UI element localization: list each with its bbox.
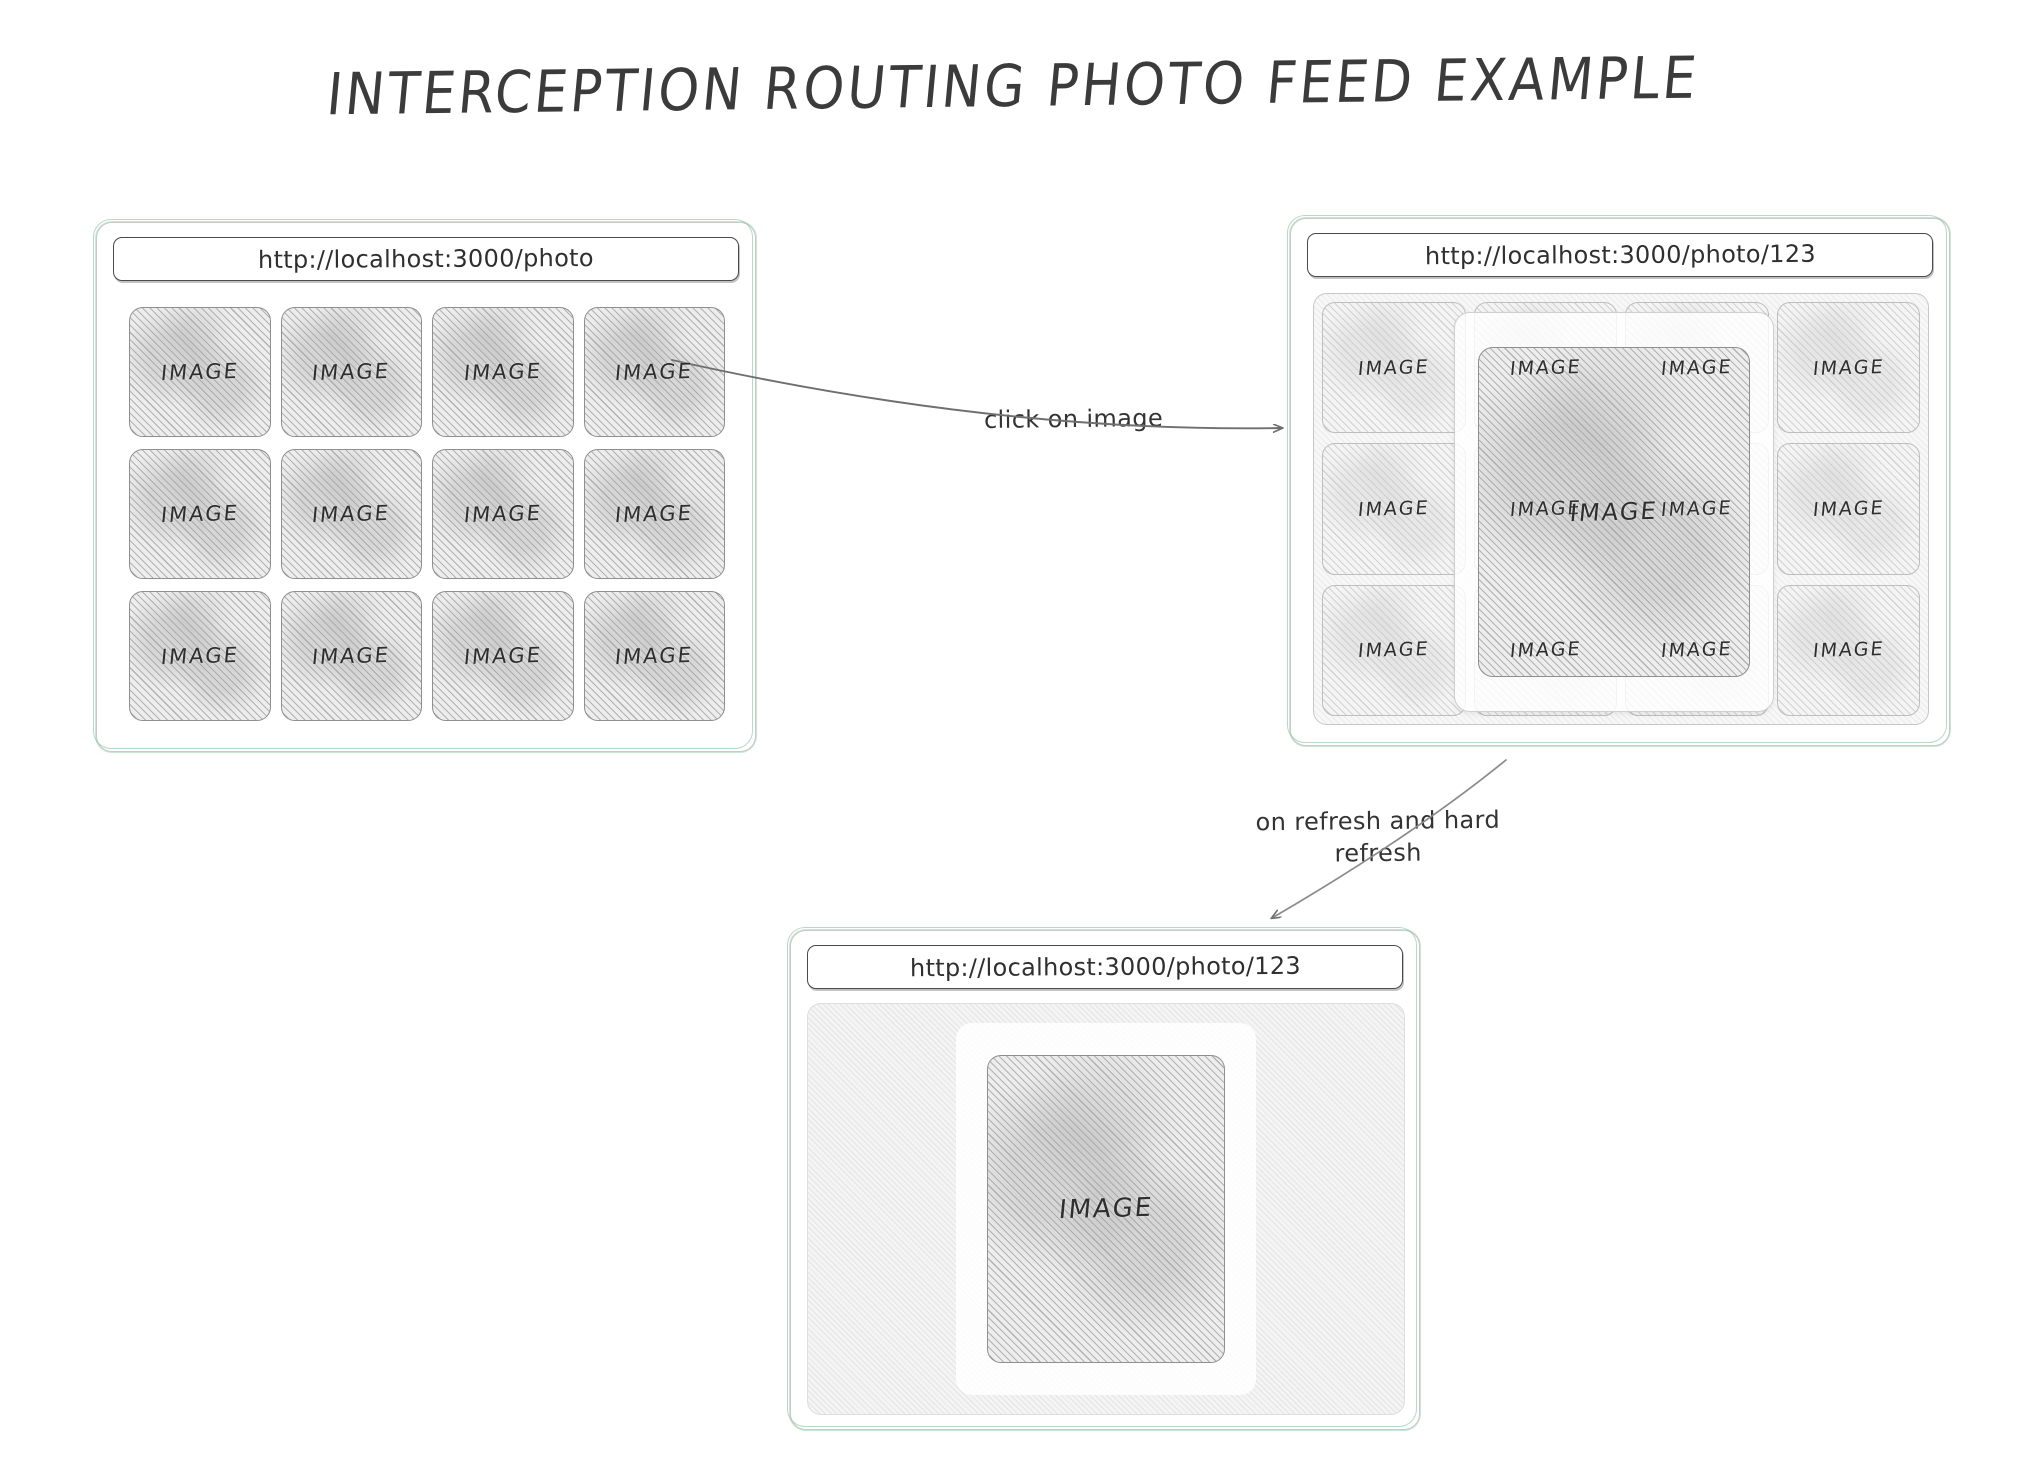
photo-feed-tile[interactable]: IMAGE (281, 307, 423, 437)
photo-feed-tile-label: IMAGE (463, 501, 543, 527)
photo-feed-tile[interactable]: IMAGE (281, 449, 423, 579)
url-text-photo-detail: http://localhost:3000/photo/123 (909, 952, 1300, 982)
photo-detail-frame: IMAGE (956, 1023, 1256, 1395)
browser-window-photo-detail: http://localhost:3000/photo/123 IMAGE (790, 930, 1420, 1430)
photo-grid-dimmed-tile-label: IMAGE (1357, 497, 1431, 521)
photo-grid-dimmed-tile[interactable]: IMAGE (1777, 443, 1921, 574)
photo-grid-dimmed-tile-label: IMAGE (1508, 638, 1582, 662)
photo-detail-image-label: IMAGE (1057, 1193, 1154, 1226)
photo-feed-tile-label: IMAGE (160, 359, 240, 385)
browser-window-intercepted: http://localhost:3000/photo/123 IMAGEIMA… (1290, 218, 1950, 746)
photo-feed-tile[interactable]: IMAGE (584, 449, 726, 579)
photo-feed-tile[interactable]: IMAGE (584, 591, 726, 721)
photo-grid-dimmed-tile[interactable]: IMAGE (1777, 585, 1921, 716)
photo-grid-dimmed-tile-label: IMAGE (1811, 638, 1885, 662)
photo-grid-background: IMAGEIMAGEIMAGEIMAGEIMAGEIMAGEIMAGEIMAGE… (1313, 293, 1929, 725)
photo-feed-tile-label: IMAGE (614, 643, 694, 669)
photo-grid-dimmed-tile[interactable]: IMAGE (1322, 443, 1466, 574)
photo-grid-dimmed-tile[interactable]: IMAGE (1322, 302, 1466, 433)
photo-detail-body: IMAGE (807, 1003, 1405, 1415)
photo-feed-tile[interactable]: IMAGE (432, 591, 574, 721)
photo-feed-tile-label: IMAGE (311, 359, 391, 385)
photo-feed-tile[interactable]: IMAGE (432, 307, 574, 437)
annotation-click-on-image: click on image (984, 404, 1163, 434)
photo-grid-dimmed-tile[interactable]: IMAGE (1777, 302, 1921, 433)
photo-grid-dimmed-tile-label: IMAGE (1660, 638, 1734, 662)
photo-feed-tile[interactable]: IMAGE (432, 449, 574, 579)
photo-feed-tile[interactable]: IMAGE (129, 307, 271, 437)
photo-feed-tile-label: IMAGE (311, 501, 391, 527)
annotation-on-refresh: on refresh and hard refresh (1228, 803, 1529, 871)
photo-grid-dimmed-tile-label: IMAGE (1357, 356, 1431, 380)
photo-grid-dimmed-tile-label: IMAGE (1811, 497, 1885, 521)
url-bar-intercepted[interactable]: http://localhost:3000/photo/123 (1307, 233, 1933, 277)
photo-feed-tile[interactable]: IMAGE (281, 591, 423, 721)
photo-detail-image-tile[interactable]: IMAGE (987, 1055, 1225, 1363)
photo-feed-tile-label: IMAGE (160, 643, 240, 669)
photo-feed-tile-label: IMAGE (614, 359, 694, 385)
arrow-click-on-image (672, 360, 1282, 428)
photo-grid-dimmed-tile-label: IMAGE (1811, 356, 1885, 380)
modal-image-label: IMAGE (1569, 497, 1659, 527)
photo-feed-tile-label: IMAGE (614, 501, 694, 527)
photo-feed-tile[interactable]: IMAGE (584, 307, 726, 437)
photo-feed-tile-label: IMAGE (463, 643, 543, 669)
photo-grid-dimmed-tile-label: IMAGE (1660, 497, 1734, 521)
diagram-canvas: INTERCEPTION ROUTING PHOTO FEED EXAMPLE … (0, 0, 2026, 1470)
photo-feed-tile-label: IMAGE (311, 643, 391, 669)
photo-grid-dimmed-tile-label: IMAGE (1508, 356, 1582, 380)
photo-feed-tile[interactable]: IMAGE (129, 449, 271, 579)
photo-feed-tile-label: IMAGE (463, 359, 543, 385)
url-bar-photo-feed[interactable]: http://localhost:3000/photo (113, 237, 739, 281)
url-text-intercepted: http://localhost:3000/photo/123 (1424, 240, 1815, 270)
photo-grid-dimmed-tile-label: IMAGE (1660, 356, 1734, 380)
photo-feed-tile-label: IMAGE (160, 501, 240, 527)
photo-feed-tile[interactable]: IMAGE (129, 591, 271, 721)
photo-grid-feed: IMAGEIMAGEIMAGEIMAGEIMAGEIMAGEIMAGEIMAGE… (121, 299, 733, 729)
photo-grid-dimmed-tile-label: IMAGE (1357, 638, 1431, 662)
browser-window-photo-feed: http://localhost:3000/photo IMAGEIMAGEIM… (96, 222, 756, 752)
page-title: INTERCEPTION ROUTING PHOTO FEED EXAMPLE (0, 40, 2026, 133)
url-text-photo-feed: http://localhost:3000/photo (258, 244, 594, 274)
url-bar-photo-detail[interactable]: http://localhost:3000/photo/123 (807, 945, 1403, 989)
photo-grid-dimmed-tile[interactable]: IMAGE (1322, 585, 1466, 716)
